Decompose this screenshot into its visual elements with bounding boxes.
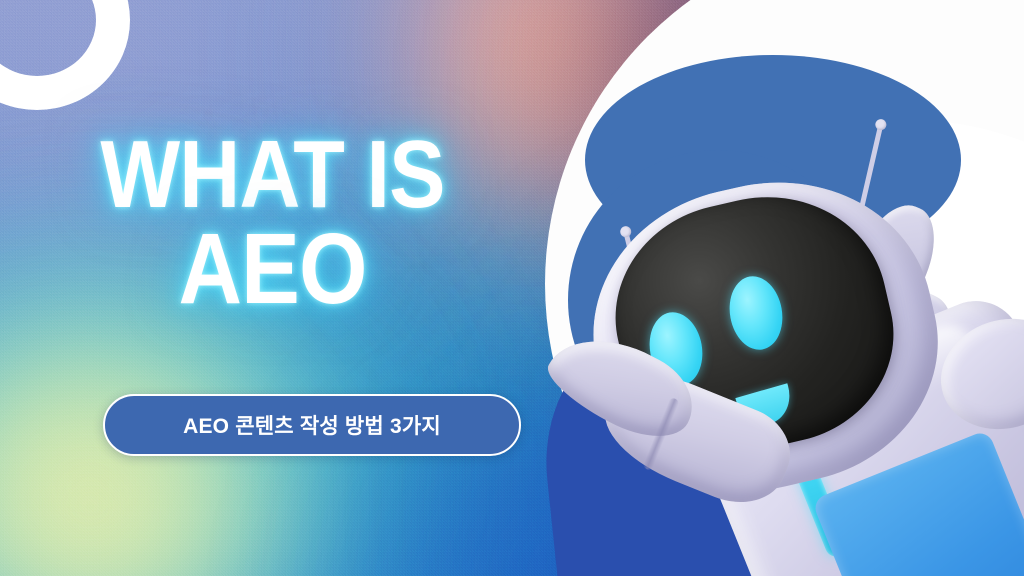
page-title: WHAT IS AEO [0,128,545,318]
subtitle-pill-button[interactable]: AEO 콘텐츠 작성 방법 3가지 [103,394,521,456]
antenna-knob-right-icon [874,118,887,131]
headline-line-2: AEO [33,221,513,318]
antenna-knob-left-icon [619,225,632,238]
slide-canvas: WHAT IS AEO AEO 콘텐츠 작성 방법 3가지 [0,0,1024,576]
ai-robot-mascot [540,90,1024,576]
headline-line-1: WHAT IS [33,128,513,221]
subtitle-pill-label: AEO 콘텐츠 작성 방법 3가지 [183,410,441,440]
